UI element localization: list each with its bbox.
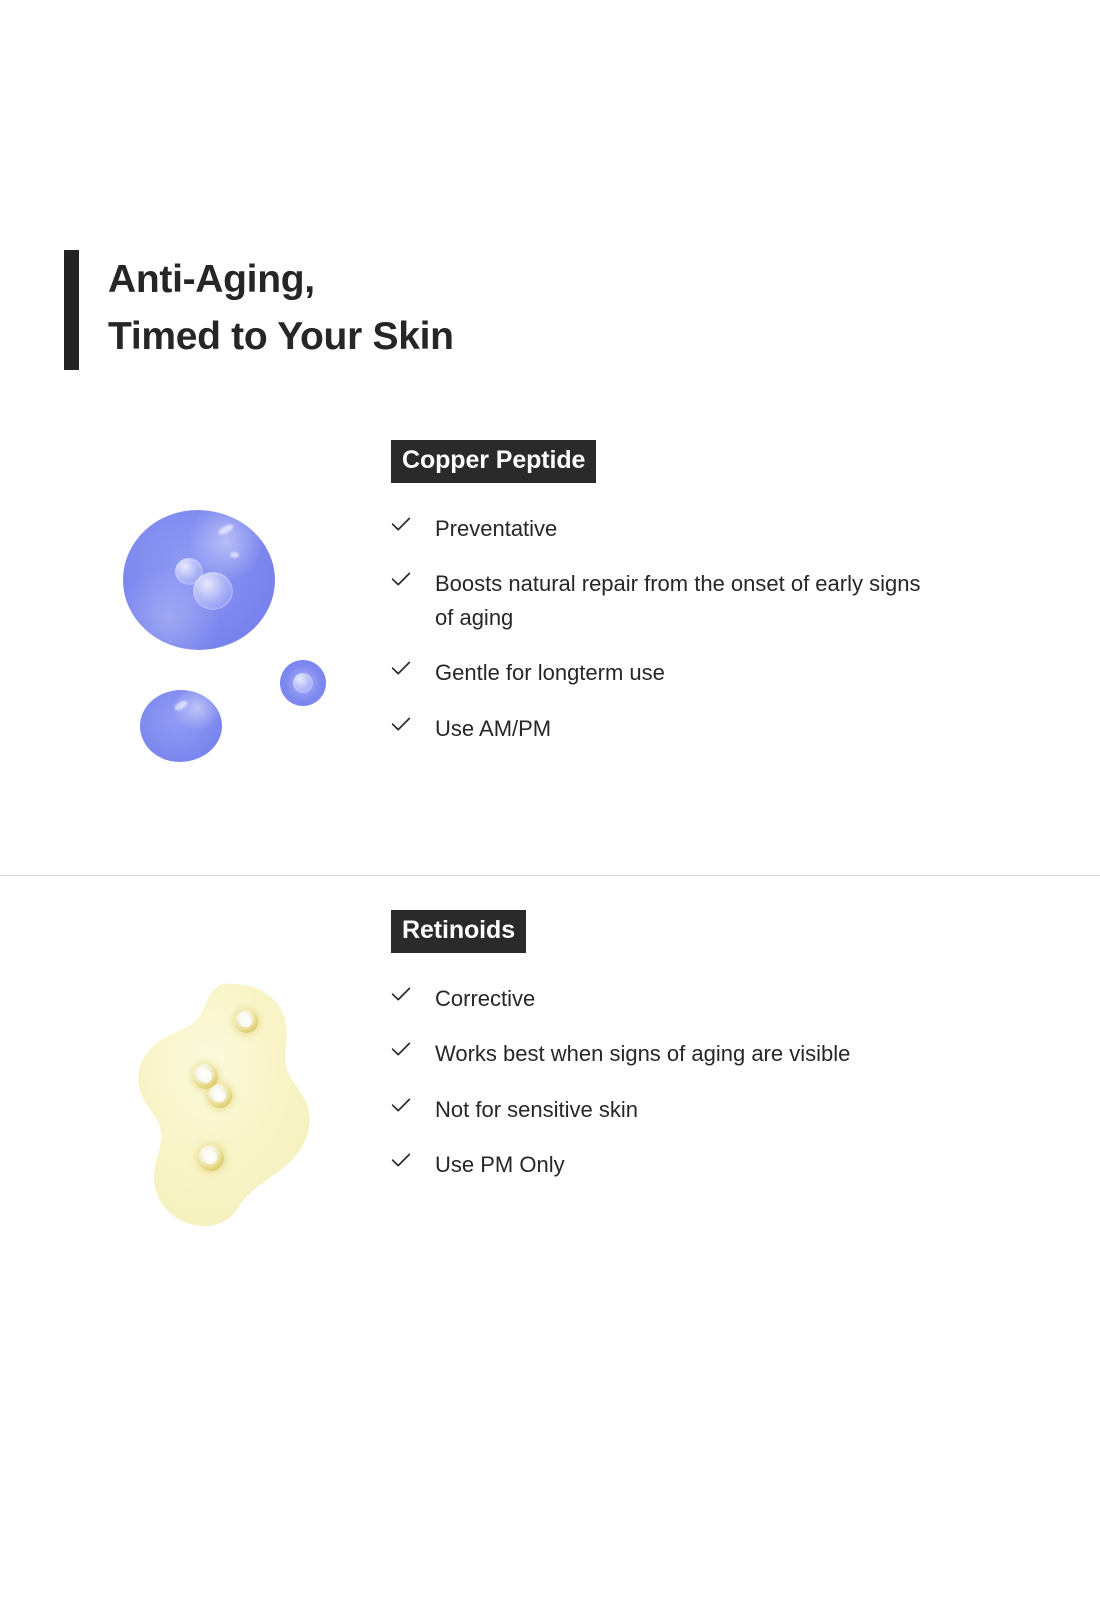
check-icon	[391, 982, 435, 1002]
list-item-label: Not for sensitive skin	[435, 1093, 638, 1126]
copper-peptide-visual	[0, 440, 391, 800]
list-item: Use AM/PM	[391, 712, 1011, 745]
section-divider	[0, 875, 1100, 876]
page-title-line-1: Anti-Aging,	[108, 252, 454, 309]
retinoids-checklist: Corrective Works best when signs of agin…	[391, 982, 1011, 1182]
badge-retinoids: Retinoids	[391, 910, 526, 953]
list-item: Use PM Only	[391, 1148, 1011, 1181]
page-title: Anti-Aging, Timed to Your Skin	[108, 250, 454, 370]
check-icon	[391, 656, 435, 676]
copper-peptide-content: Copper Peptide Preventative	[391, 440, 1011, 745]
list-item-label: Corrective	[435, 982, 535, 1015]
droplet-bubble	[293, 673, 313, 693]
copper-peptide-checklist: Preventative Boosts natural repair from …	[391, 512, 1011, 745]
list-item: Gentle for longterm use	[391, 656, 1011, 689]
droplet-large	[123, 510, 275, 650]
list-item-label: Boosts natural repair from the onset of …	[435, 567, 935, 634]
check-icon	[391, 512, 435, 532]
section-retinoids: Retinoids Corrective	[0, 910, 1100, 1310]
droplet-tiny	[280, 660, 326, 706]
section-copper-peptide: Copper Peptide Preventative	[0, 440, 1100, 840]
list-item-label: Use AM/PM	[435, 712, 551, 745]
list-item-label: Preventative	[435, 512, 557, 545]
check-icon	[391, 1148, 435, 1168]
page-heading: Anti-Aging, Timed to Your Skin	[64, 250, 454, 370]
check-icon	[391, 567, 435, 587]
check-icon	[391, 712, 435, 732]
check-icon	[391, 1037, 435, 1057]
list-item: Works best when signs of aging are visib…	[391, 1037, 1011, 1070]
droplet-highlight	[230, 552, 239, 558]
list-item-label: Works best when signs of aging are visib…	[435, 1037, 850, 1070]
list-item: Not for sensitive skin	[391, 1093, 1011, 1126]
badge-copper-peptide: Copper Peptide	[391, 440, 596, 483]
yellow-serum-blob-image	[130, 980, 320, 1230]
blob-bubble	[198, 1145, 224, 1171]
blue-serum-droplets-image	[118, 500, 338, 790]
list-item: Preventative	[391, 512, 1011, 545]
droplet-bubble	[193, 572, 233, 610]
page-title-line-2: Timed to Your Skin	[108, 309, 454, 366]
infographic-page: Anti-Aging, Timed to Your Skin Copper	[0, 0, 1100, 1600]
retinoids-content: Retinoids Corrective	[391, 910, 1011, 1182]
blob-bubble	[235, 1010, 258, 1033]
retinoids-visual	[0, 910, 391, 1270]
check-icon	[391, 1093, 435, 1113]
list-item: Boosts natural repair from the onset of …	[391, 567, 1011, 634]
list-item: Corrective	[391, 982, 1011, 1015]
list-item-label: Use PM Only	[435, 1148, 565, 1181]
blob-bubble	[208, 1084, 232, 1108]
list-item-label: Gentle for longterm use	[435, 656, 665, 689]
heading-accent-bar	[64, 250, 79, 370]
